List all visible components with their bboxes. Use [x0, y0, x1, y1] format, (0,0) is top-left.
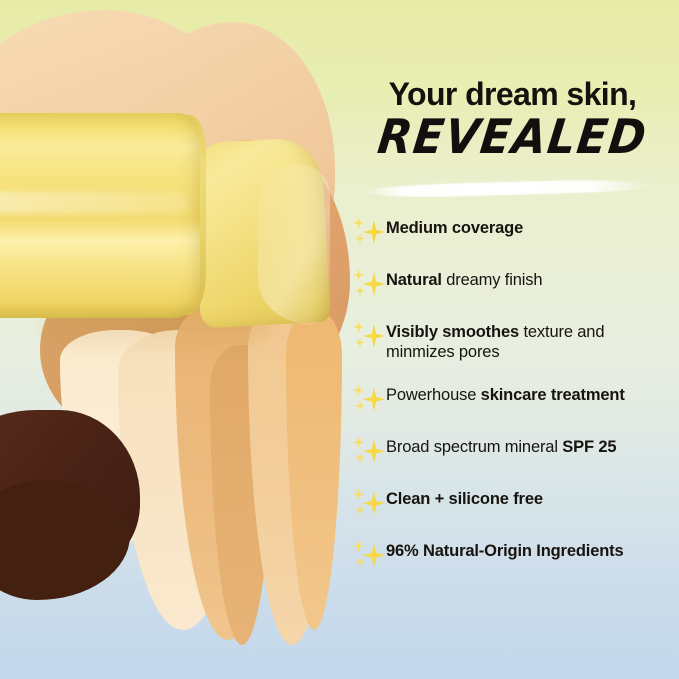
- sparkle-star-shape: [355, 556, 365, 567]
- sparkle-icon: [352, 436, 386, 466]
- feature-list-item-label: Visibly smoothes texture and minmizes po…: [386, 320, 677, 362]
- headline-line-1: Your dream skin,: [350, 78, 675, 112]
- feature-list: Medium coverageNatural dreamy finishVisi…: [352, 216, 677, 591]
- sparkle-icon: [352, 384, 386, 414]
- sparkle-star-shape: [355, 233, 365, 244]
- sparkle-star-shape: [353, 436, 364, 448]
- feature-list-item: Broad spectrum mineral SPF 25: [352, 435, 677, 466]
- product-marketing-poster: Your dream skin, REVEALED Medium coverag…: [0, 0, 679, 679]
- sparkle-star-shape: [353, 384, 364, 396]
- feature-list-item: Powerhouse skincare treatment: [352, 383, 677, 414]
- yellow-cap-highlight: [258, 165, 330, 325]
- sparkle-icon: [352, 217, 386, 247]
- feature-list-item-label: Clean + silicone free: [386, 487, 543, 509]
- feature-list-item-label: Natural dreamy finish: [386, 268, 542, 290]
- sparkle-icon: [352, 269, 386, 299]
- sparkle-star-shape: [355, 337, 365, 348]
- feature-list-item: 96% Natural-Origin Ingredients: [352, 539, 677, 570]
- headline-block: Your dream skin, REVEALED: [350, 78, 675, 160]
- yellow-foundation-tube: [0, 113, 200, 318]
- feature-text-regular: Broad spectrum mineral: [386, 438, 562, 456]
- feature-text-regular: dreamy finish: [446, 271, 542, 289]
- sparkle-star-shape: [353, 269, 364, 281]
- feature-text-bold: Clean + silicone free: [386, 490, 543, 508]
- sparkle-star-shape: [363, 491, 385, 515]
- feature-text-bold: 96% Natural-Origin Ingredients: [386, 542, 624, 560]
- sparkle-icon: [352, 488, 386, 518]
- sparkle-star-shape: [353, 217, 364, 229]
- text-column: Your dream skin, REVEALED Medium coverag…: [348, 0, 679, 679]
- sparkle-star-shape: [355, 452, 365, 463]
- tube-gloss-highlight: [0, 192, 190, 214]
- sparkle-star-shape: [363, 220, 385, 244]
- sparkle-star-shape: [363, 272, 385, 296]
- sparkle-star-shape: [355, 285, 365, 296]
- sparkle-star-shape: [355, 400, 365, 411]
- feature-text-bold: Visibly smoothes: [386, 323, 523, 341]
- feature-list-item: Clean + silicone free: [352, 487, 677, 518]
- sparkle-star-shape: [363, 324, 385, 348]
- sparkle-star-shape: [353, 540, 364, 552]
- sparkle-icon: [352, 321, 386, 351]
- feature-list-item-label: Powerhouse skincare treatment: [386, 383, 625, 405]
- feature-text-bold: skincare treatment: [481, 386, 625, 404]
- feature-list-item: Natural dreamy finish: [352, 268, 677, 299]
- sparkle-star-shape: [355, 504, 365, 515]
- feature-text-regular: Powerhouse: [386, 386, 481, 404]
- sparkle-star-shape: [363, 387, 385, 411]
- feature-list-item-label: 96% Natural-Origin Ingredients: [386, 539, 624, 561]
- sparkle-icon: [352, 540, 386, 570]
- sparkle-star-shape: [353, 488, 364, 500]
- headline-line-2: REVEALED: [347, 114, 678, 162]
- feature-text-bold: SPF 25: [562, 438, 616, 456]
- sparkle-star-shape: [363, 543, 385, 567]
- feature-text-bold: Natural: [386, 271, 446, 289]
- feature-list-item: Visibly smoothes texture and minmizes po…: [352, 320, 677, 362]
- sparkle-star-shape: [353, 321, 364, 333]
- sparkle-star-shape: [363, 439, 385, 463]
- brush-underline: [362, 178, 652, 199]
- feature-list-item: Medium coverage: [352, 216, 677, 247]
- feature-list-item-label: Broad spectrum mineral SPF 25: [386, 435, 616, 457]
- feature-list-item-label: Medium coverage: [386, 216, 523, 238]
- feature-text-bold: Medium coverage: [386, 219, 523, 237]
